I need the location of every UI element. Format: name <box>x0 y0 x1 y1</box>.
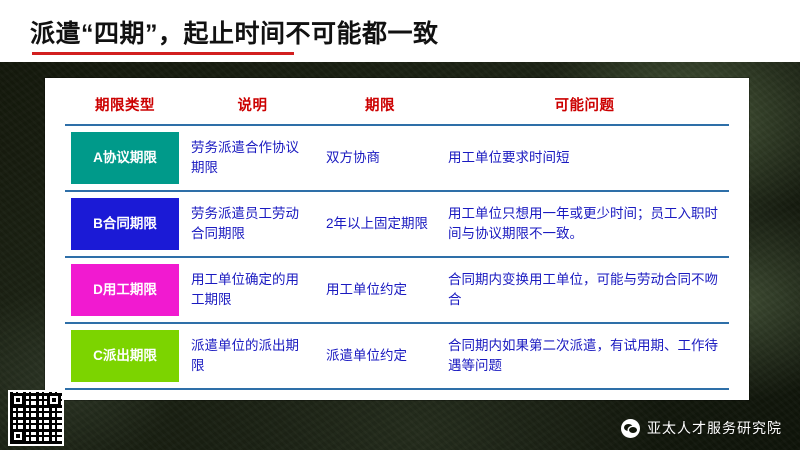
term-text: 2年以上固定期限 <box>320 214 440 234</box>
column-header-type: 期限类型 <box>65 90 185 125</box>
column-header-desc: 说明 <box>185 90 320 125</box>
qr-eye-top-right <box>47 393 61 407</box>
desc-text: 派遣单位的派出期限 <box>185 336 320 375</box>
table-row: A协议期限 劳务派遣合作协议期限 双方协商 用工单位要求时间短 <box>65 125 729 191</box>
term-text: 派遣单位约定 <box>320 346 440 366</box>
issue-text: 合同期内如果第二次派遣，有试用期、工作待遇等问题 <box>440 336 729 375</box>
desc-text: 劳务派遣合作协议期限 <box>185 138 320 177</box>
type-cell: B合同期限 <box>65 191 185 257</box>
wechat-icon <box>621 419 640 438</box>
type-cell: C派出期限 <box>65 323 185 389</box>
term-text: 双方协商 <box>320 148 440 168</box>
type-badge: D用工期限 <box>71 264 179 316</box>
type-badge: A协议期限 <box>71 132 179 184</box>
brand-name: 亚太人才服务研究院 <box>647 418 782 438</box>
qr-code[interactable] <box>8 390 64 446</box>
desc-text: 劳务派遣员工劳动合同期限 <box>185 204 320 243</box>
term-cell: 双方协商 <box>320 125 440 191</box>
qr-code-pattern <box>10 392 62 444</box>
table-row: C派出期限 派遣单位的派出期限 派遣单位约定 合同期内如果第二次派遣，有试用期、… <box>65 323 729 389</box>
type-cell: D用工期限 <box>65 257 185 323</box>
desc-cell: 劳务派遣员工劳动合同期限 <box>185 191 320 257</box>
desc-cell: 用工单位确定的用工期限 <box>185 257 320 323</box>
type-badge: C派出期限 <box>71 330 179 382</box>
title-band: 派遣“四期”，起止时间不可能都一致 <box>0 0 800 62</box>
term-text: 用工单位约定 <box>320 280 440 300</box>
issue-cell: 用工单位要求时间短 <box>440 125 729 191</box>
term-cell: 用工单位约定 <box>320 257 440 323</box>
desc-cell: 劳务派遣合作协议期限 <box>185 125 320 191</box>
column-header-issue: 可能问题 <box>440 90 729 125</box>
issue-text: 合同期内变换用工单位，可能与劳动合同不吻合 <box>440 270 729 309</box>
page-title: 派遣“四期”，起止时间不可能都一致 <box>30 14 439 50</box>
desc-cell: 派遣单位的派出期限 <box>185 323 320 389</box>
qr-eye-top-left <box>11 393 25 407</box>
issue-text: 用工单位只想用一年或更少时间；员工入职时间与协议期限不一致。 <box>440 204 729 243</box>
table-row: B合同期限 劳务派遣员工劳动合同期限 2年以上固定期限 用工单位只想用一年或更少… <box>65 191 729 257</box>
column-header-term: 期限 <box>320 90 440 125</box>
type-badge: B合同期限 <box>71 198 179 250</box>
issue-cell: 合同期内如果第二次派遣，有试用期、工作待遇等问题 <box>440 323 729 389</box>
qr-eye-bottom-left <box>11 429 25 443</box>
issue-cell: 用工单位只想用一年或更少时间；员工入职时间与协议期限不一致。 <box>440 191 729 257</box>
term-cell: 派遣单位约定 <box>320 323 440 389</box>
issue-cell: 合同期内变换用工单位，可能与劳动合同不吻合 <box>440 257 729 323</box>
type-cell: A协议期限 <box>65 125 185 191</box>
footer-brand: 亚太人才服务研究院 <box>621 418 782 438</box>
content-card: 期限类型 说明 期限 可能问题 A协议期限 劳务派遣合作协议期限 双方协商 用工… <box>45 78 749 400</box>
title-underline <box>32 52 294 55</box>
desc-text: 用工单位确定的用工期限 <box>185 270 320 309</box>
term-cell: 2年以上固定期限 <box>320 191 440 257</box>
issue-text: 用工单位要求时间短 <box>440 148 729 168</box>
table-header-row: 期限类型 说明 期限 可能问题 <box>65 90 729 125</box>
table-row: D用工期限 用工单位确定的用工期限 用工单位约定 合同期内变换用工单位，可能与劳… <box>65 257 729 323</box>
term-types-table: 期限类型 说明 期限 可能问题 A协议期限 劳务派遣合作协议期限 双方协商 用工… <box>65 90 729 390</box>
